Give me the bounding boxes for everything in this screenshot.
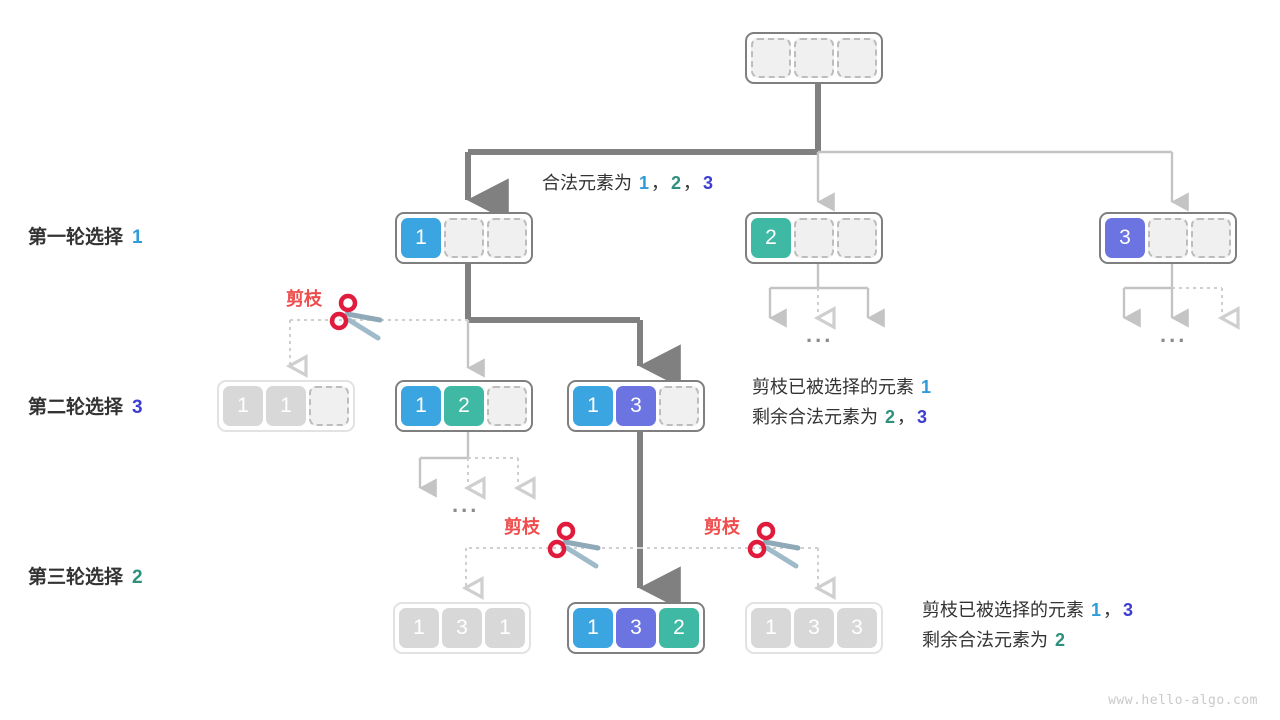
node-row3-132[interactable]: 1 3 2: [567, 602, 705, 654]
node-cell: [487, 386, 527, 426]
scissors-icon: [550, 524, 598, 566]
prune-label-2: 剪枝: [504, 513, 540, 539]
annotation-row2-line1-prefix: 剪枝已被选择的元素: [752, 377, 914, 397]
node-cell: 1: [573, 386, 613, 426]
legal-note-value-1: 1: [639, 173, 649, 193]
annotation-row2-line1-value-1: 1: [921, 377, 931, 397]
node-cell: [837, 38, 877, 78]
node-row1-2[interactable]: 2: [745, 212, 883, 264]
node-cell: 1: [266, 386, 306, 426]
annotation-row3-line2-value-1: 2: [1055, 630, 1065, 650]
node-cell: 3: [794, 608, 834, 648]
prune-label-3: 剪枝: [704, 513, 740, 539]
annotation-row3-line2: 剩余合法元素为 2: [922, 625, 1135, 655]
annotation-row3-line1-value-2: 3: [1123, 600, 1133, 620]
legal-note-sep-1: ，: [651, 173, 669, 193]
ellipsis-1: ...: [806, 322, 833, 348]
node-cell: [309, 386, 349, 426]
scissors-icon: [332, 296, 380, 338]
node-row1-1[interactable]: 1: [395, 212, 533, 264]
node-row2-12[interactable]: 1 2: [395, 380, 533, 432]
diagram-canvas: 第一轮选择1 第二轮选择3 第三轮选择2 合法元素为 1，2，3 剪枝已被选择的…: [0, 0, 1280, 720]
legal-note-value-2: 2: [671, 173, 681, 193]
node-cell: [487, 218, 527, 258]
annotation-row2-line2: 剩余合法元素为 2，3: [752, 402, 933, 432]
node-cell: 1: [485, 608, 525, 648]
node-cell: 2: [751, 218, 791, 258]
annotation-row3-line1-prefix: 剪枝已被选择的元素: [922, 600, 1084, 620]
annotation-row2-line1: 剪枝已被选择的元素 1: [752, 372, 933, 402]
annotation-row2-line2-sep: ，: [897, 407, 915, 427]
node-cell: 2: [659, 608, 699, 648]
row-label-2-value: 3: [132, 397, 143, 418]
annotation-row2-line2-value-2: 3: [917, 407, 927, 427]
annotation-row2-line2-value-1: 2: [885, 407, 895, 427]
node-cell: 3: [616, 608, 656, 648]
node-cell: 3: [837, 608, 877, 648]
ellipsis-3: ...: [452, 492, 479, 518]
annotation-row3-line1: 剪枝已被选择的元素 1，3: [922, 595, 1135, 625]
node-cell: [1148, 218, 1188, 258]
node-cell: [659, 386, 699, 426]
node-row2-13[interactable]: 1 3: [567, 380, 705, 432]
node-cell: 1: [401, 218, 441, 258]
node-row2-pruned[interactable]: 1 1: [217, 380, 355, 432]
node-cell: 1: [573, 608, 613, 648]
row-label-3-value: 2: [132, 567, 143, 588]
annotation-row2: 剪枝已被选择的元素 1 剩余合法元素为 2，3: [752, 372, 933, 432]
node-cell: [794, 218, 834, 258]
node-cell: 1: [223, 386, 263, 426]
row-label-1-value: 1: [132, 227, 143, 248]
node-cell: 1: [401, 386, 441, 426]
node-cell: [1191, 218, 1231, 258]
row-label-1: 第一轮选择1: [28, 222, 143, 249]
node-row1-3[interactable]: 3: [1099, 212, 1237, 264]
legal-note-prefix: 合法元素为: [542, 173, 632, 193]
node-cell: 3: [442, 608, 482, 648]
row-label-1-text: 第一轮选择: [28, 227, 123, 248]
node-cell: [751, 38, 791, 78]
row-label-2-text: 第二轮选择: [28, 397, 123, 418]
annotation-row3-line1-sep: ，: [1103, 600, 1121, 620]
node-cell: 1: [399, 608, 439, 648]
scissors-icon: [750, 524, 798, 566]
node-cell: [444, 218, 484, 258]
legal-note-value-3: 3: [703, 173, 713, 193]
ellipsis-2: ...: [1160, 322, 1187, 348]
annotation-row3-line1-value-1: 1: [1091, 600, 1101, 620]
row-label-2: 第二轮选择3: [28, 392, 143, 419]
annotation-row2-line2-prefix: 剩余合法元素为: [752, 407, 878, 427]
prune-label-1: 剪枝: [286, 285, 322, 311]
row-label-3: 第三轮选择2: [28, 562, 143, 589]
annotation-row3-line2-prefix: 剩余合法元素为: [922, 630, 1048, 650]
watermark: www.hello-algo.com: [1108, 693, 1258, 708]
node-cell: 3: [616, 386, 656, 426]
node-cell: 2: [444, 386, 484, 426]
node-root[interactable]: [745, 32, 883, 84]
legal-elements-note: 合法元素为 1，2，3: [542, 169, 715, 195]
row-label-3-text: 第三轮选择: [28, 567, 123, 588]
node-cell: 3: [1105, 218, 1145, 258]
node-cell: [837, 218, 877, 258]
node-cell: 1: [751, 608, 791, 648]
legal-note-sep-2: ，: [683, 173, 701, 193]
node-row3-pruned-right[interactable]: 1 3 3: [745, 602, 883, 654]
node-row3-pruned-left[interactable]: 1 3 1: [393, 602, 531, 654]
node-cell: [794, 38, 834, 78]
annotation-row3: 剪枝已被选择的元素 1，3 剩余合法元素为 2: [922, 595, 1135, 655]
